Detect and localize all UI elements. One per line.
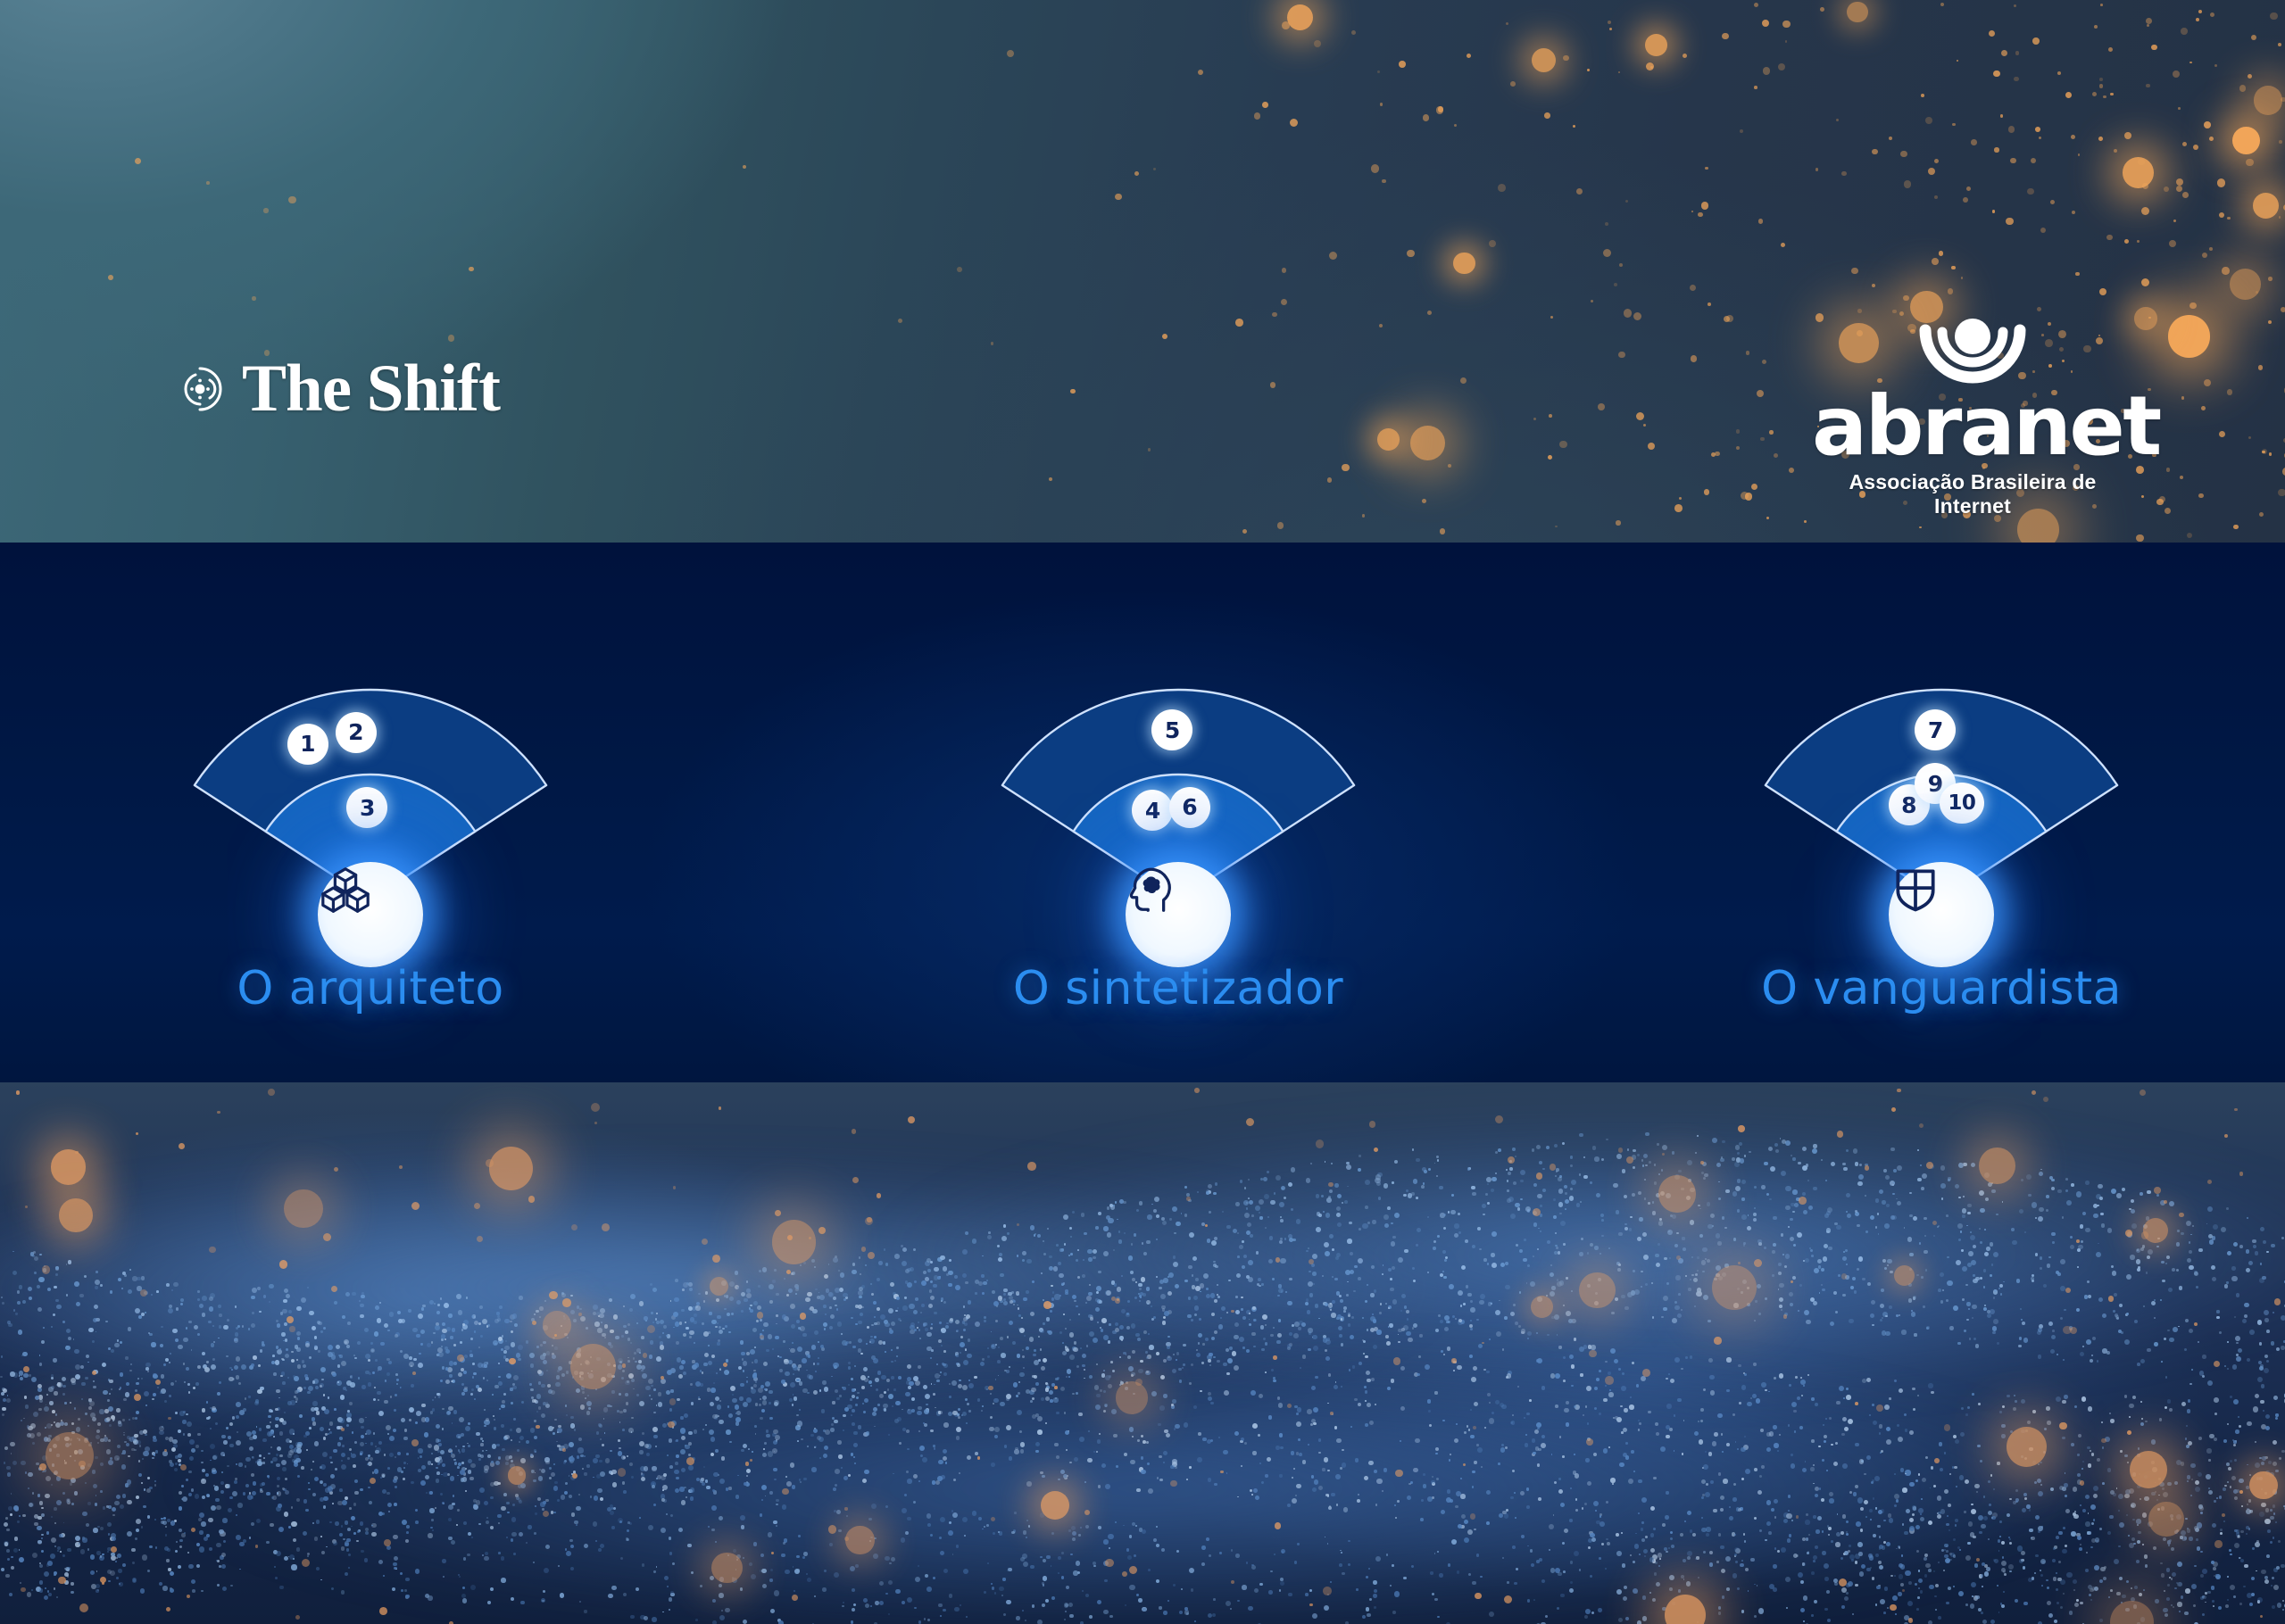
- profile-hub-arquiteto[interactable]: [318, 862, 423, 967]
- profile-hub-sintetizador[interactable]: [1126, 862, 1231, 967]
- profile-fan-vanguardista[interactable]: 78910 O vanguardista: [1665, 543, 2218, 1082]
- abranet-wordmark: abranet: [1812, 389, 2133, 465]
- profile-label-arquiteto: O arquiteto: [94, 962, 647, 1015]
- abranet-logo: abranet Associação Brasileira de Interne…: [1812, 314, 2133, 518]
- profile-hub-vanguardista[interactable]: [1889, 862, 1994, 967]
- abranet-tagline: Associação Brasileira de Internet: [1812, 470, 2133, 518]
- badge-inner-6[interactable]: 6: [1169, 787, 1210, 828]
- badge-outer-1[interactable]: 1: [287, 724, 328, 765]
- profile-fan-group: 123 O arquiteto546 O sintetizador78910 O…: [0, 543, 2285, 1082]
- particle-grain: [0, 1082, 2285, 1624]
- profile-fan-sintetizador[interactable]: 546 O sintetizador: [902, 543, 1455, 1082]
- profile-label-sintetizador: O sintetizador: [902, 962, 1455, 1015]
- footer-particle-image: [0, 1082, 2285, 1624]
- profiles-panel: 123 O arquiteto546 O sintetizador78910 O…: [0, 543, 2285, 1082]
- spiral-orbit-icon: [174, 363, 226, 415]
- profile-label-vanguardista: O vanguardista: [1665, 962, 2218, 1015]
- abranet-arc-icon: [1812, 314, 2133, 387]
- slide-canvas: The Shift abranet Associação Brasileira …: [0, 0, 2285, 1624]
- hero-banner: The Shift abranet Associação Brasileira …: [0, 0, 2285, 543]
- badge-inner-10[interactable]: 10: [1940, 783, 1984, 824]
- badge-outer-2[interactable]: 2: [336, 712, 377, 753]
- profile-fan-arquiteto[interactable]: 123 O arquiteto: [94, 543, 647, 1082]
- the-shift-wordmark: The Shift: [242, 355, 500, 422]
- the-shift-logo: The Shift: [174, 355, 500, 422]
